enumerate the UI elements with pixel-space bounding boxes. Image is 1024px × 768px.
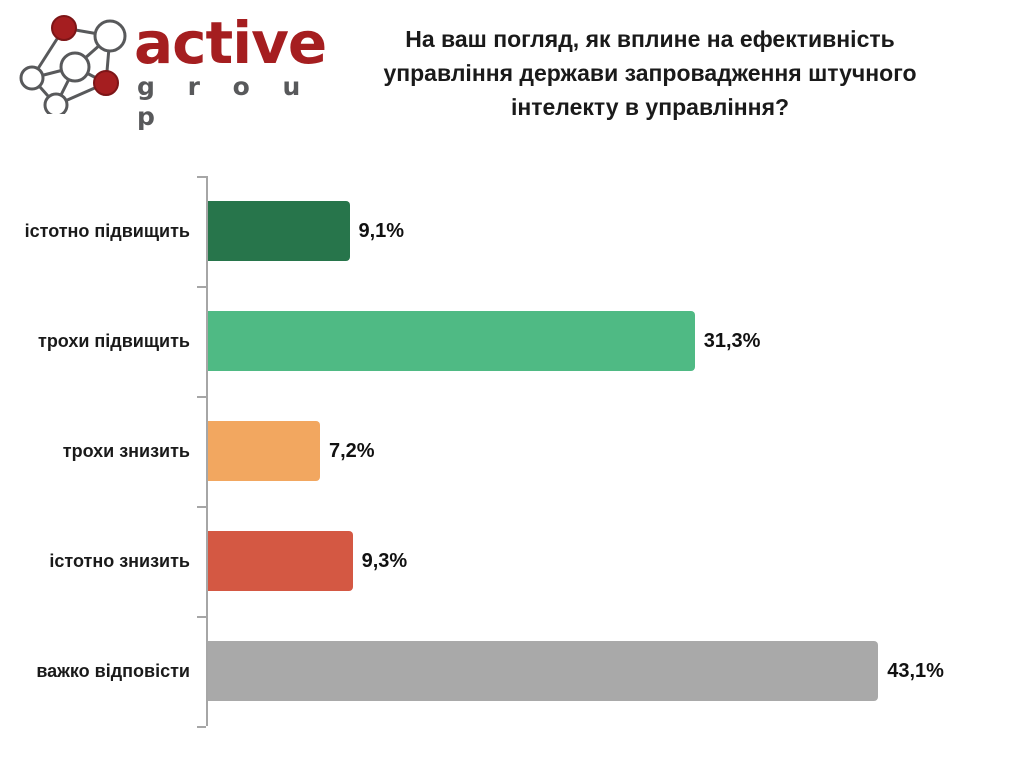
bar-chart: істотно підвищить9,1%трохи підвищить31,3… xyxy=(0,0,1024,768)
category-label: трохи знизить xyxy=(0,396,190,506)
bar-value-label: 31,3% xyxy=(704,330,761,353)
bar-row: істотно знизить9,3% xyxy=(0,506,1024,616)
bar-row: трохи підвищить31,3% xyxy=(0,286,1024,396)
bar-group: 43,1% xyxy=(208,641,944,701)
bar-value-label: 43,1% xyxy=(887,660,944,683)
bar-group: 9,3% xyxy=(208,531,407,591)
bar-row: істотно підвищить9,1% xyxy=(0,176,1024,286)
bar-group: 31,3% xyxy=(208,311,760,371)
category-label: важко відповісти xyxy=(0,616,190,726)
bar-group: 7,2% xyxy=(208,421,375,481)
bar[interactable] xyxy=(208,641,878,701)
bar-value-label: 9,3% xyxy=(362,550,408,573)
bar-group: 9,1% xyxy=(208,201,404,261)
bar-value-label: 9,1% xyxy=(359,220,405,243)
category-label: істотно знизить xyxy=(0,506,190,616)
slide-canvas: active g r o u p На ваш погляд, як вплин… xyxy=(0,0,1024,768)
bar-value-label: 7,2% xyxy=(329,440,375,463)
bar[interactable] xyxy=(208,201,350,261)
bar[interactable] xyxy=(208,531,353,591)
category-label: трохи підвищить xyxy=(0,286,190,396)
bar-row: важко відповісти43,1% xyxy=(0,616,1024,726)
category-label: істотно підвищить xyxy=(0,176,190,286)
bar[interactable] xyxy=(208,421,320,481)
axis-tick xyxy=(197,726,206,728)
bar-row: трохи знизить7,2% xyxy=(0,396,1024,506)
bar[interactable] xyxy=(208,311,695,371)
